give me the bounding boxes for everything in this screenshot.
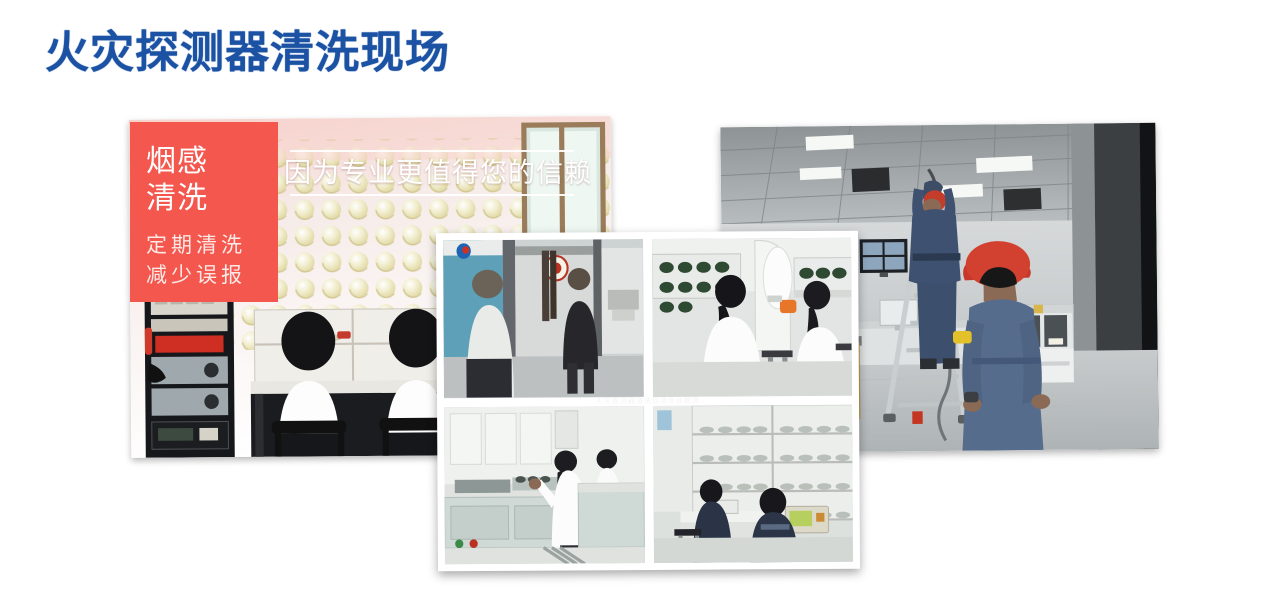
- photo-collage-card: 火灾探测器清洗现场专业服务: [436, 231, 860, 572]
- promo-subtext-line1: 定期清洗: [146, 231, 278, 261]
- promo-subtext-line2: 减少误报: [146, 261, 278, 291]
- promo-headline-line1: 烟感: [146, 144, 278, 181]
- collage-photo-lab-bench-technicians-illustration: [652, 238, 852, 397]
- promo-headline: 烟感 清洗: [146, 144, 278, 217]
- collage-cell-3: [444, 406, 644, 565]
- page-title: 火灾探测器清洗现场: [45, 28, 450, 77]
- collage-cell-2: [652, 238, 852, 397]
- promo-banner: 烟感 清洗 定期清洗 减少误报: [130, 122, 278, 302]
- collage-cell-4: [653, 404, 853, 563]
- collage-photo-ultrasonic-washing-illustration: [444, 406, 644, 565]
- collage-cell-1: [443, 239, 643, 398]
- promo-headline-line2: 清洗: [146, 181, 278, 218]
- collage-grid: [443, 238, 853, 564]
- promo-subtext: 定期清洗 减少误报: [146, 231, 278, 291]
- poster-canvas: 火灾探测器清洗现场: [0, 0, 1280, 615]
- collage-photo-corridor-inspection-illustration: [443, 239, 643, 398]
- collage-photo-drying-rack-storage-illustration: [653, 404, 853, 563]
